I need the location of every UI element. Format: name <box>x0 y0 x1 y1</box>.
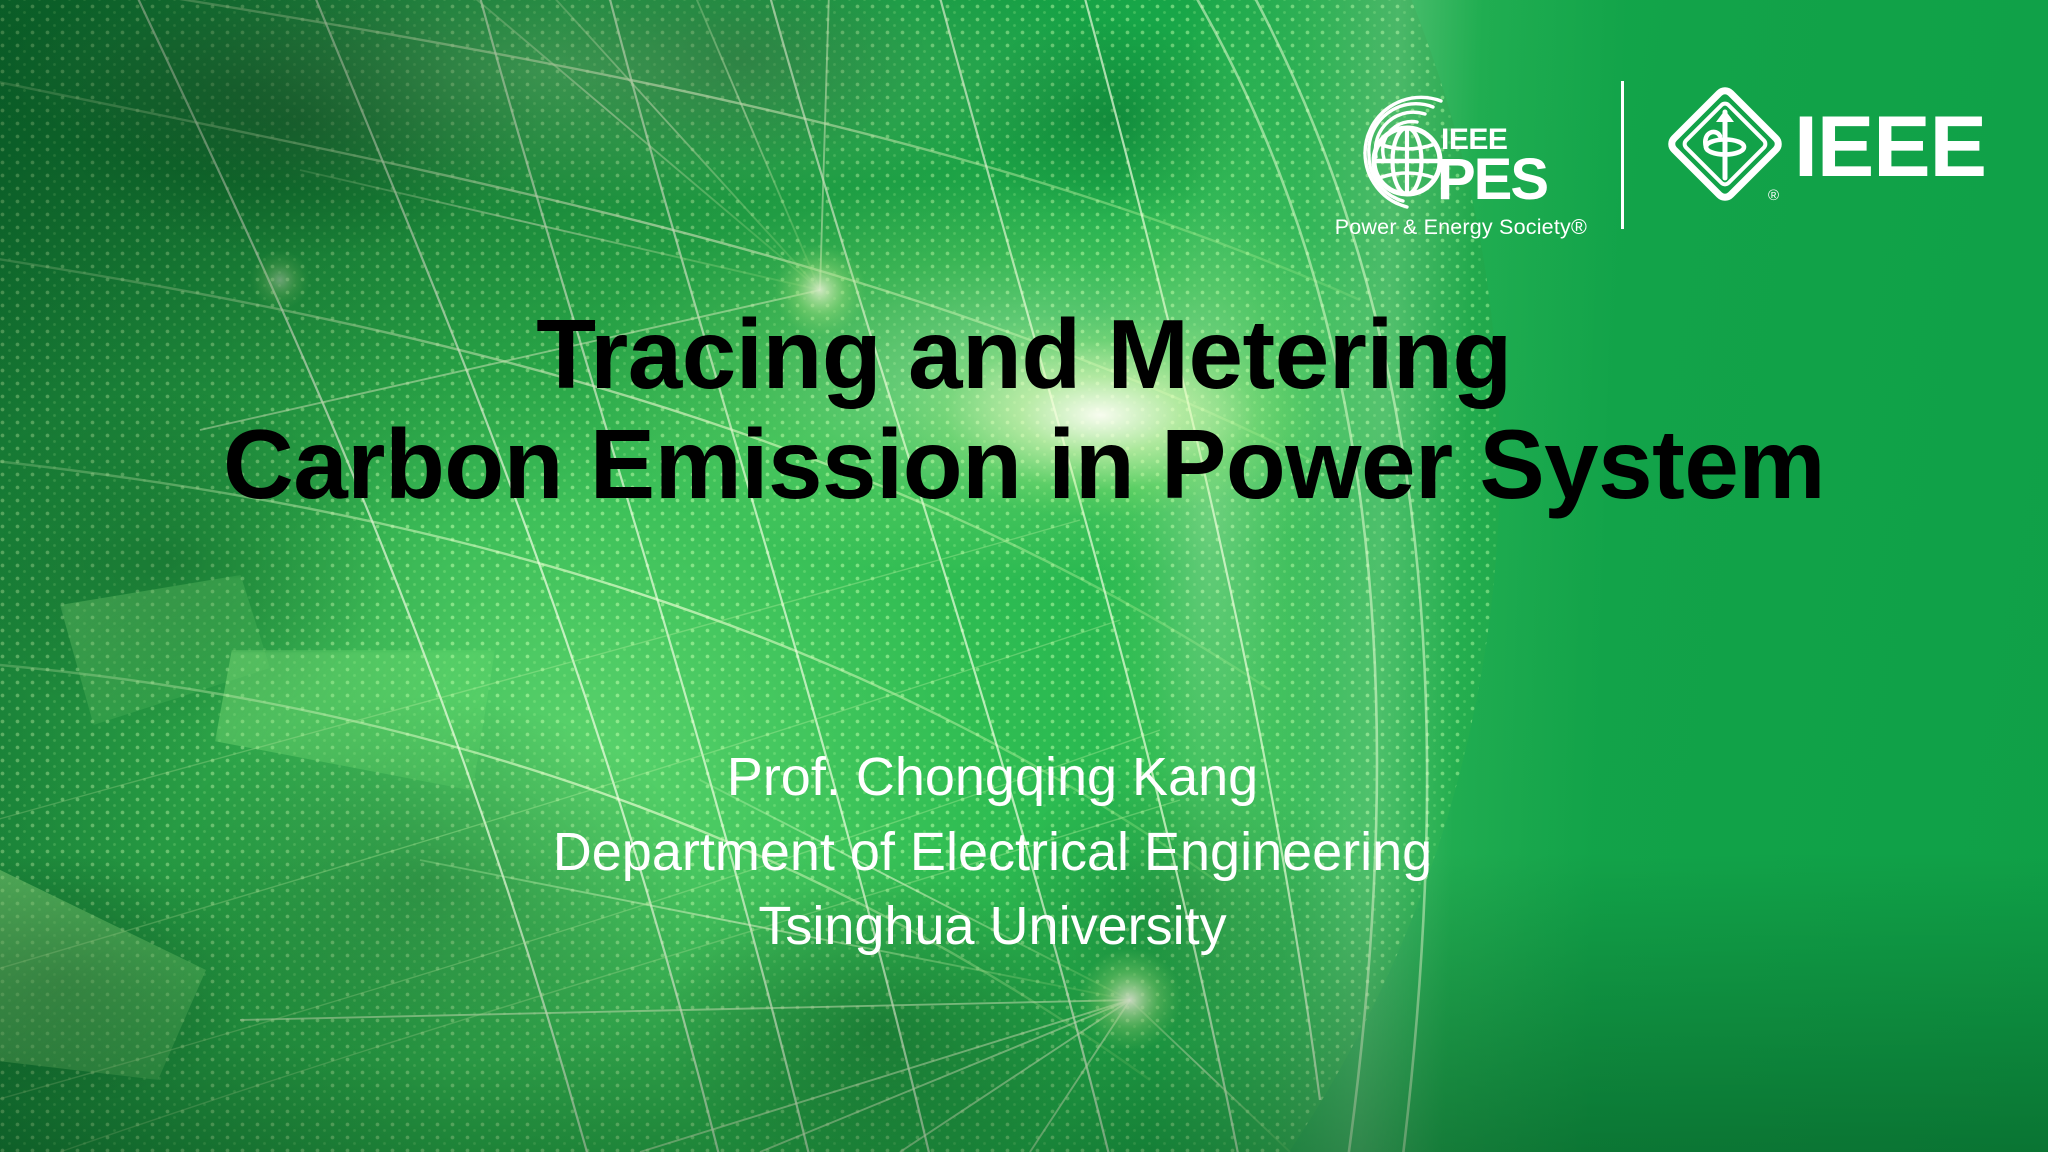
title-line-2: Carbon Emission in Power System <box>0 410 2048 520</box>
ieee-diamond-kite-icon: ® <box>1662 84 1788 210</box>
globe-sphere <box>0 0 1500 1152</box>
logo-bar: IEEE PES Power & Energy Society® ® <box>1335 70 1986 240</box>
page-title: Tracing and Metering Carbon Emission in … <box>0 300 2048 520</box>
svg-text:PES: PES <box>1437 147 1547 212</box>
logo-divider <box>1621 81 1624 229</box>
ieee-pes-globe-logo: IEEE PES <box>1345 91 1577 213</box>
ieee-master-brand-logo: ® IEEE <box>1662 62 1986 248</box>
title-line-1: Tracing and Metering <box>0 300 2048 410</box>
presenter-department: Department of Electrical Engineering <box>0 815 1985 890</box>
ieee-wordmark: IEEE <box>1794 104 1986 190</box>
svg-text:®: ® <box>1768 187 1779 204</box>
pes-tagline: Power & Energy Society® <box>1335 215 1587 240</box>
ieee-pes-logo: IEEE PES Power & Energy Society® <box>1335 70 1621 240</box>
presenter-block: Prof. Chongqing Kang Department of Elect… <box>0 740 1985 964</box>
highlight-facet-upper <box>60 575 270 725</box>
globe-icon <box>1374 128 1440 194</box>
presenter-institution: Tsinghua University <box>0 889 1985 964</box>
title-slide: IEEE PES Power & Energy Society® ® <box>0 0 2048 1152</box>
presenter-name: Prof. Chongqing Kang <box>0 740 1985 815</box>
binary-data-halftone-texture <box>0 0 1500 1152</box>
